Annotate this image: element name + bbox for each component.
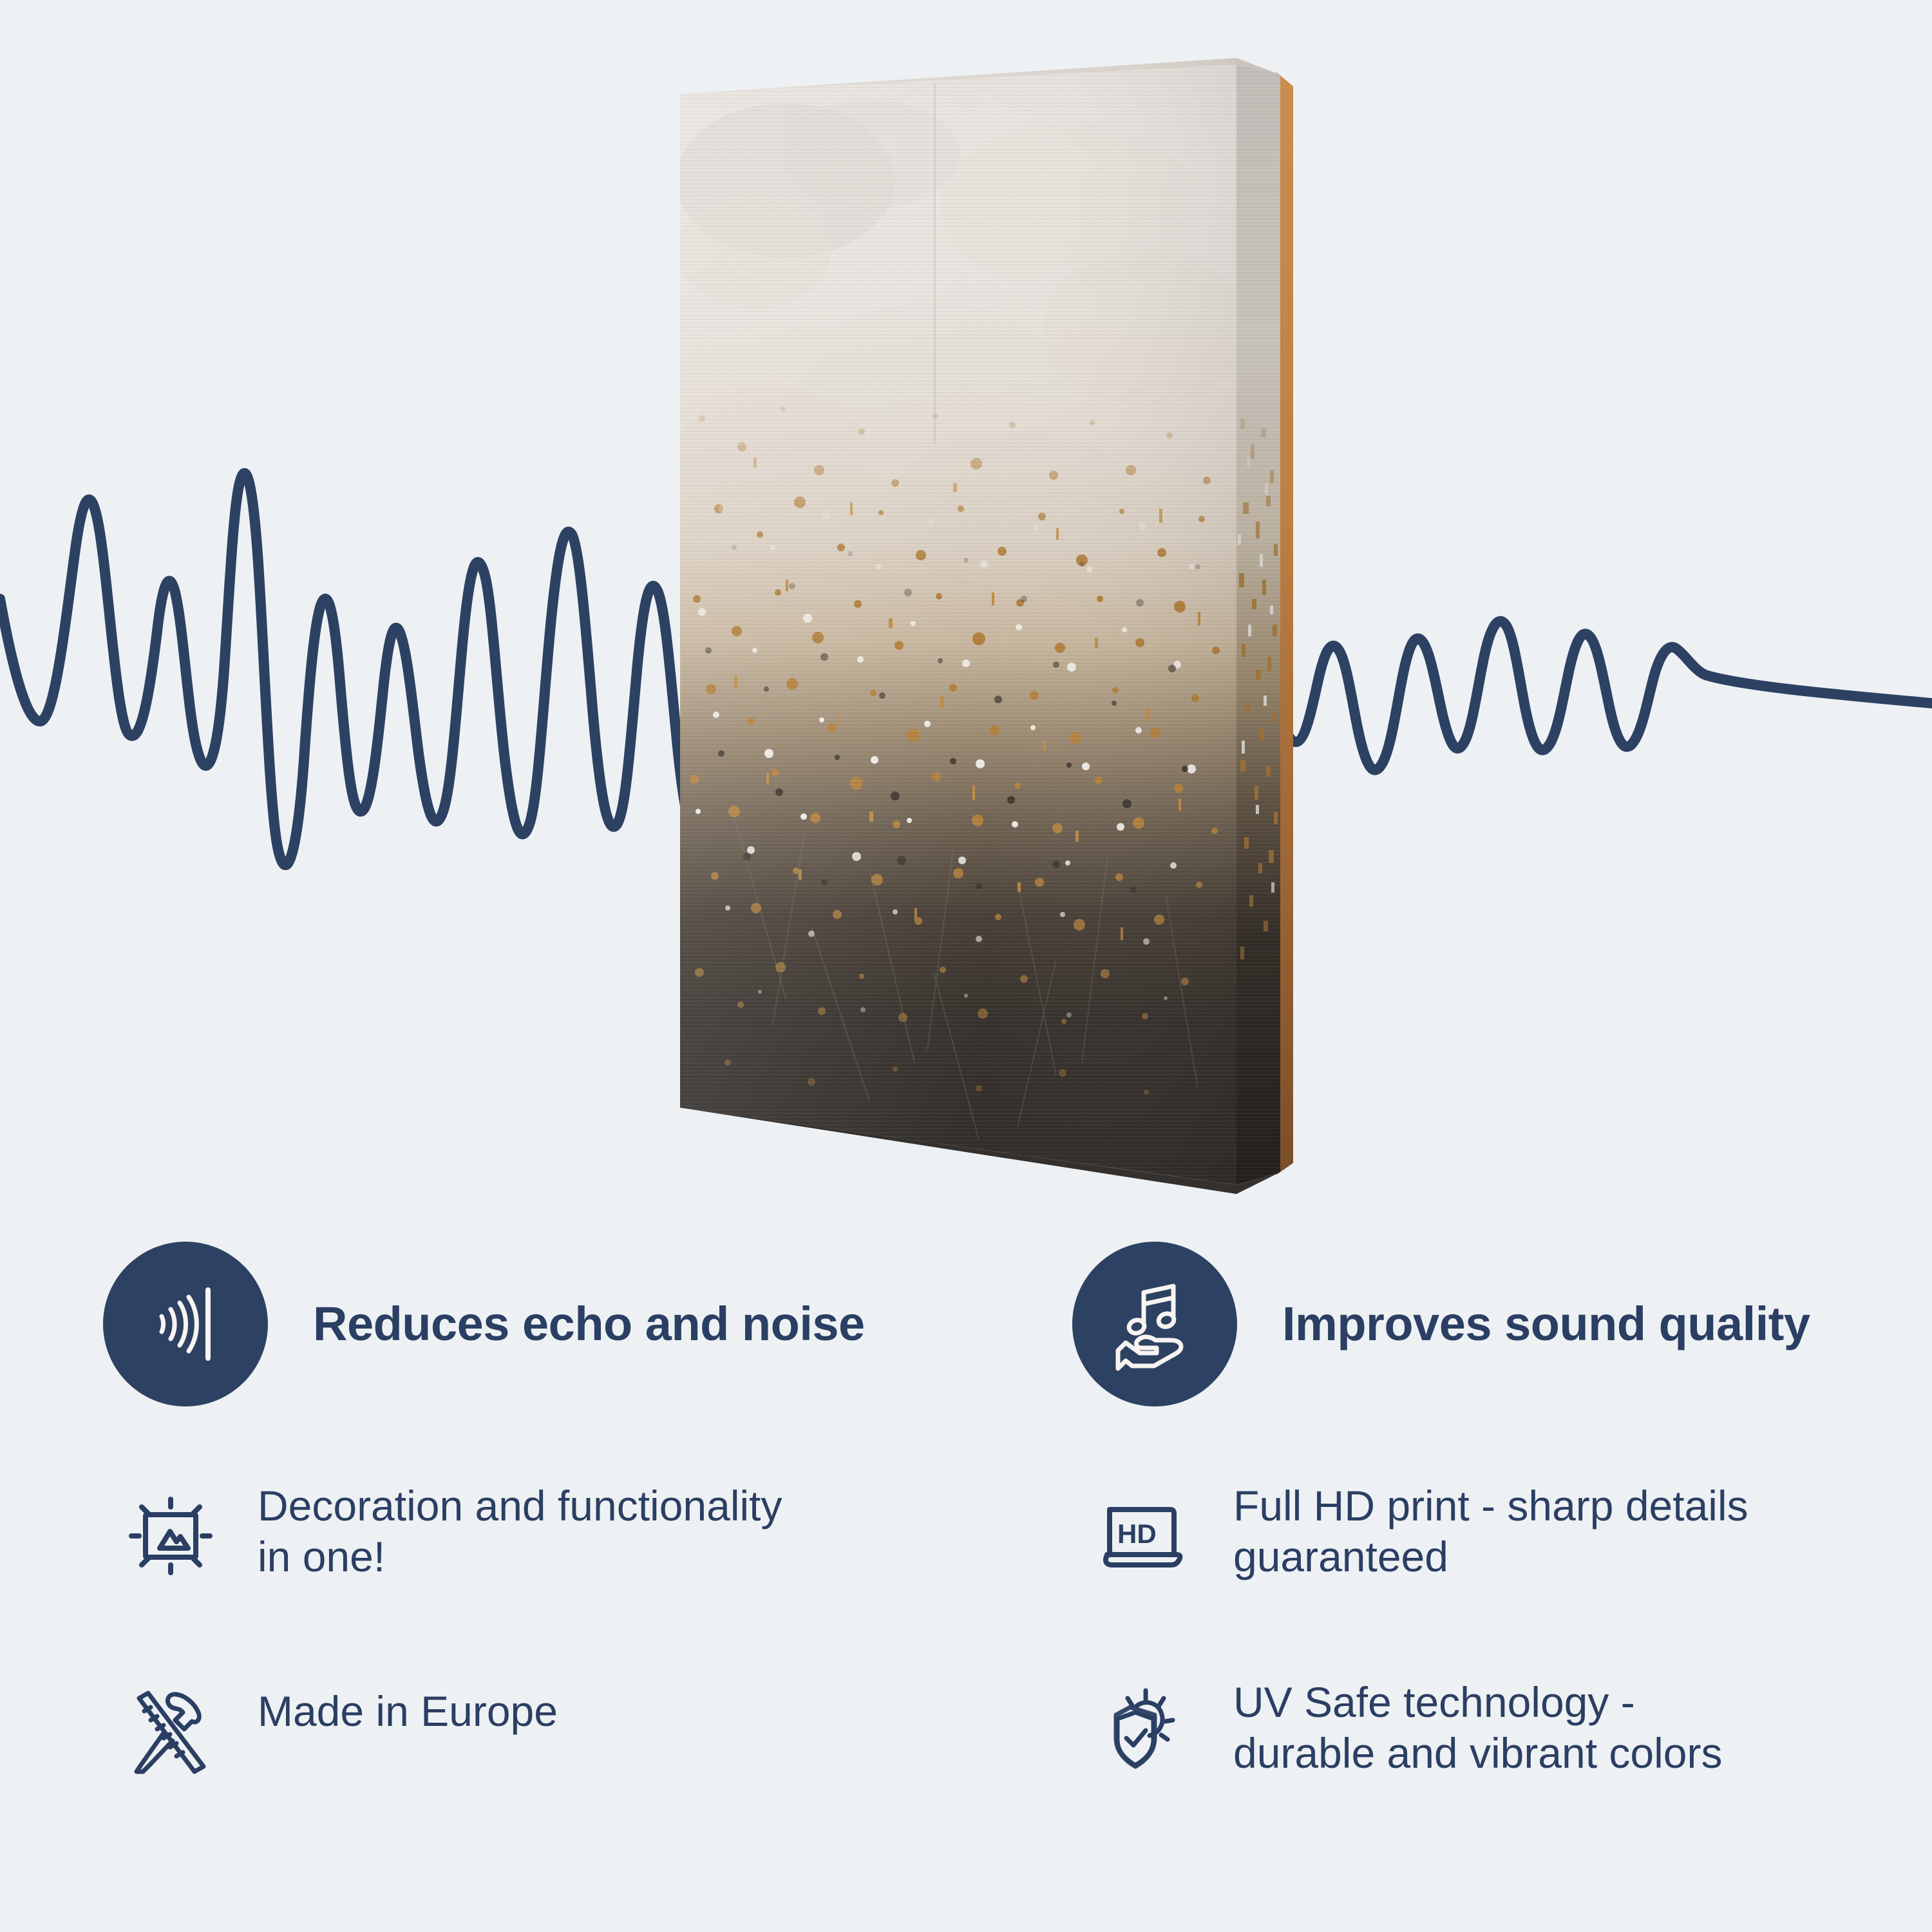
feature-label: Decoration and functionality in one! — [258, 1478, 782, 1582]
feature-list: Reduces echo and noise Improves sound — [0, 1224, 1932, 1932]
canvas-side-face — [1236, 58, 1280, 1185]
sound-wave-path-right — [1249, 612, 1932, 770]
feature-label: Full HD print - sharp details guaranteed — [1233, 1478, 1748, 1582]
highlight-reduces-echo-and-noise: Reduces echo and noise — [103, 1242, 865, 1406]
feature-label: Made in Europe — [258, 1674, 558, 1737]
sound-wave-panel-icon — [103, 1242, 268, 1406]
feature-full-hd-print: HD Full HD print - sharp details guarant… — [1088, 1478, 1748, 1594]
highlight-label: Improves sound quality — [1282, 1299, 1810, 1349]
music-note-hand-icon — [1072, 1242, 1237, 1406]
canvas-front-face — [676, 58, 1249, 1185]
feature-uv-safe-technology: UV Safe technology - durable and vibrant… — [1088, 1674, 1722, 1790]
feature-made-in-europe: Made in Europe — [113, 1674, 558, 1790]
ruler-hammer-icon — [113, 1674, 229, 1790]
feature-decoration-and-functionality: Decoration and functionality in one! — [113, 1478, 782, 1594]
infographic-canvas: Reduces echo and noise Improves sound — [0, 0, 1932, 1932]
feature-label: UV Safe technology - durable and vibrant… — [1233, 1674, 1722, 1779]
hd-label: HD — [1117, 1519, 1157, 1549]
hd-screen-icon: HD — [1088, 1478, 1204, 1594]
shield-check-sun-icon — [1088, 1674, 1204, 1790]
highlight-label: Reduces echo and noise — [313, 1299, 865, 1349]
acoustic-canvas-print — [657, 58, 1307, 1269]
highlight-improves-sound-quality: Improves sound quality — [1072, 1242, 1810, 1406]
framed-picture-shining-icon — [113, 1478, 229, 1594]
